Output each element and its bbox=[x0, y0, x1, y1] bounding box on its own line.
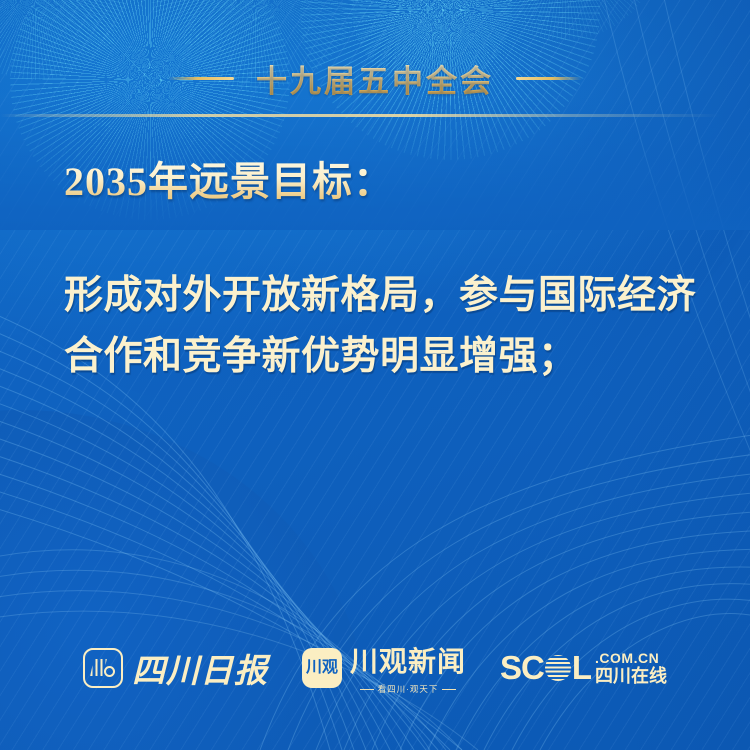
chuanguan-badge-icon: 川观 bbox=[302, 648, 342, 688]
header-divider-line bbox=[0, 114, 750, 117]
header-title: 十九届五中全会 bbox=[256, 56, 494, 101]
logo-sichuan-daily-label: 四川日报 bbox=[132, 644, 268, 692]
header-banner: 十九届五中全会 bbox=[0, 56, 750, 101]
logo-chuanguan-news: 川观 川观新闻 看四川·观天下 bbox=[302, 640, 466, 695]
logo-sichuan-daily: 四川日报 bbox=[83, 644, 268, 692]
chuanguan-text-group: 川观新闻 看四川·观天下 bbox=[350, 640, 466, 695]
scol-word-left: SC bbox=[500, 651, 544, 684]
diamond-emblem-icon bbox=[83, 648, 123, 688]
scol-wordmark: SC L bbox=[500, 651, 591, 684]
logo-scol: SC L .COM.CN 四川在线 bbox=[500, 651, 667, 685]
scol-domain-label: .COM.CN bbox=[595, 651, 667, 665]
logo-chuanguan-news-label: 川观新闻 bbox=[350, 640, 466, 680]
scol-chinese-label: 四川在线 bbox=[595, 667, 667, 685]
scol-globe-icon bbox=[545, 655, 571, 681]
scol-word-right: L bbox=[572, 651, 591, 684]
body-paragraph: 形成对外开放新格局，参与国际经济合作和竞争新优势明显增强； bbox=[64, 266, 700, 388]
gold-rule-left-icon bbox=[168, 77, 234, 80]
scol-side-group: .COM.CN 四川在线 bbox=[595, 651, 667, 685]
content-block: 2035年远景目标： 形成对外开放新格局，参与国际经济合作和竞争新优势明显增强； bbox=[64, 158, 700, 388]
footer-logo-bar: 四川日报 川观 川观新闻 看四川·观天下 SC L .COM.CN 四川在线 bbox=[0, 640, 750, 695]
logo-chuanguan-tagline: 看四川·观天下 bbox=[360, 683, 457, 695]
gold-rule-right-icon bbox=[516, 77, 582, 80]
poster-canvas: 十九届五中全会 2035年远景目标： 形成对外开放新格局，参与国际经济合作和竞争… bbox=[0, 0, 750, 750]
page-title: 2035年远景目标： bbox=[64, 158, 700, 206]
